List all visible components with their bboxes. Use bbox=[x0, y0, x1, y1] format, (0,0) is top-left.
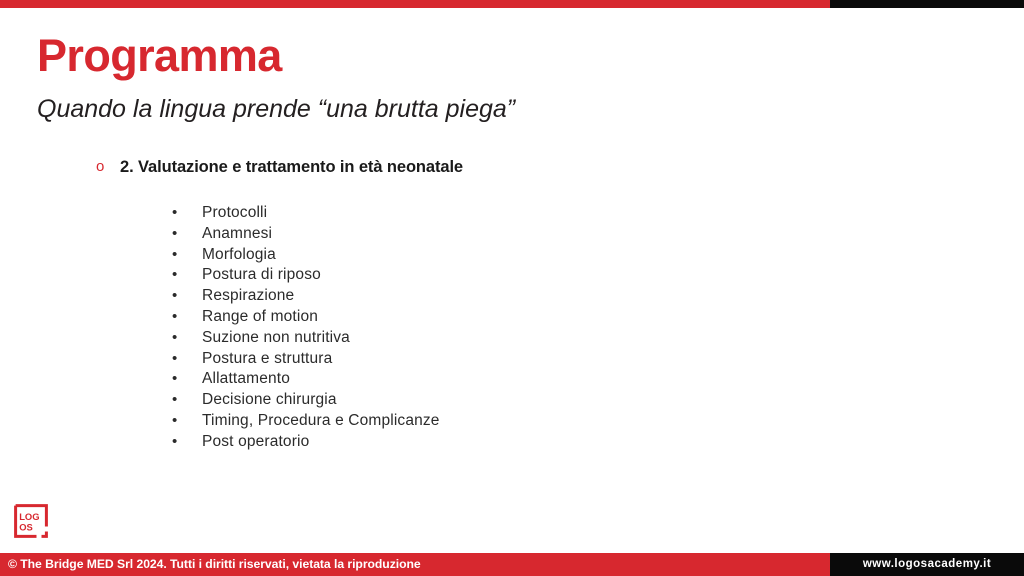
dot-bullet-icon: • bbox=[172, 369, 202, 390]
list-item: • Suzione non nutritiva bbox=[172, 328, 440, 349]
list-item: • Postura di riposo bbox=[172, 265, 440, 286]
dot-bullet-icon: • bbox=[172, 307, 202, 328]
list-item: • Decisione chirurgia bbox=[172, 390, 440, 411]
list-item: • Postura e struttura bbox=[172, 349, 440, 370]
list-item: • Range of motion bbox=[172, 307, 440, 328]
list-item: • Protocolli bbox=[172, 203, 440, 224]
page-subtitle: Quando la lingua prende “una brutta pieg… bbox=[37, 93, 515, 125]
list-item: • Morfologia bbox=[172, 245, 440, 266]
dot-bullet-icon: • bbox=[172, 349, 202, 370]
section-heading: o 2. Valutazione e trattamento in età ne… bbox=[96, 155, 463, 179]
logos-logo-icon: LOG OS bbox=[14, 504, 48, 538]
dot-bullet-icon: • bbox=[172, 245, 202, 266]
list-item: • Post operatorio bbox=[172, 432, 440, 453]
list-item-label: Suzione non nutritiva bbox=[202, 328, 350, 349]
list-item: • Timing, Procedura e Complicanze bbox=[172, 411, 440, 432]
circle-bullet-icon: o bbox=[96, 155, 120, 179]
list-item-label: Anamnesi bbox=[202, 224, 272, 245]
list-item-label: Postura di riposo bbox=[202, 265, 321, 286]
bullet-list: • Protocolli • Anamnesi • Morfologia • P… bbox=[172, 203, 440, 453]
list-item: • Anamnesi bbox=[172, 224, 440, 245]
footer-copyright: © The Bridge MED Srl 2024. Tutti i dirit… bbox=[8, 553, 421, 576]
list-item-label: Allattamento bbox=[202, 369, 290, 390]
dot-bullet-icon: • bbox=[172, 203, 202, 224]
dot-bullet-icon: • bbox=[172, 224, 202, 245]
list-item-label: Protocolli bbox=[202, 203, 267, 224]
page-title: Programma bbox=[37, 29, 282, 83]
list-item-label: Timing, Procedura e Complicanze bbox=[202, 411, 440, 432]
dot-bullet-icon: • bbox=[172, 328, 202, 349]
footer-website: www.logosacademy.it bbox=[830, 553, 1024, 576]
top-accent-bar-red bbox=[0, 0, 830, 8]
dot-bullet-icon: • bbox=[172, 432, 202, 453]
logo-line-2: OS bbox=[19, 521, 33, 532]
list-item-label: Range of motion bbox=[202, 307, 318, 328]
list-item-label: Postura e struttura bbox=[202, 349, 332, 370]
list-item-label: Post operatorio bbox=[202, 432, 309, 453]
dot-bullet-icon: • bbox=[172, 286, 202, 307]
list-item: • Allattamento bbox=[172, 369, 440, 390]
list-item-label: Respirazione bbox=[202, 286, 294, 307]
list-item-label: Morfologia bbox=[202, 245, 276, 266]
dot-bullet-icon: • bbox=[172, 390, 202, 411]
dot-bullet-icon: • bbox=[172, 411, 202, 432]
list-item: • Respirazione bbox=[172, 286, 440, 307]
list-item-label: Decisione chirurgia bbox=[202, 390, 337, 411]
dot-bullet-icon: • bbox=[172, 265, 202, 286]
slide: Programma Quando la lingua prende “una b… bbox=[0, 0, 1024, 576]
section-heading-label: 2. Valutazione e trattamento in età neon… bbox=[120, 155, 463, 179]
top-accent-bar-black bbox=[830, 0, 1024, 8]
